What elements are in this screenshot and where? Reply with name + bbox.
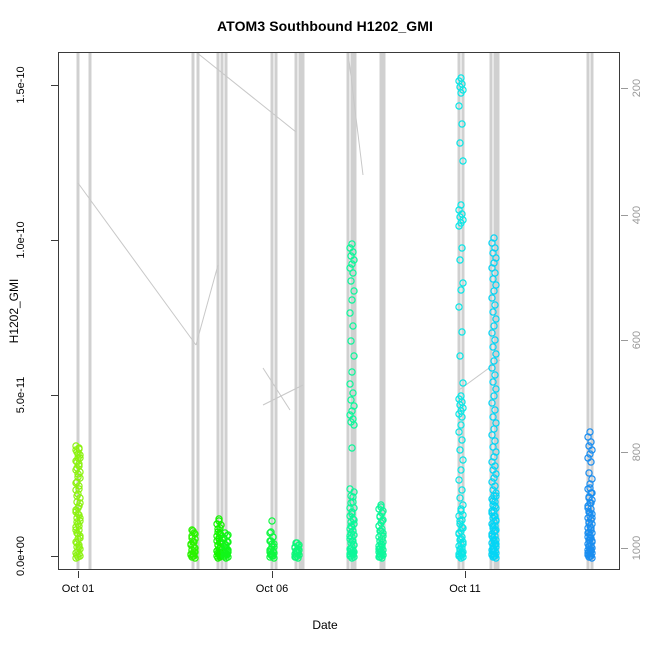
y2-axis-tick-label: 600 bbox=[631, 327, 643, 353]
axis-tick bbox=[51, 395, 58, 396]
axis-tick-right bbox=[621, 215, 628, 216]
chart-root: ATOM3 Southbound H1202_GMI 0.0e+005.0e-1… bbox=[0, 0, 650, 650]
y2-axis-tick-label: 200 bbox=[631, 75, 643, 101]
axis-tick-right bbox=[621, 548, 628, 549]
y-axis-tick-label: 5.0e-11 bbox=[15, 373, 27, 417]
axis-tick-right bbox=[621, 340, 628, 341]
y-axis-tick-label: 1.5e-10 bbox=[15, 63, 27, 107]
y-axis-label: H1202_GMI bbox=[7, 279, 21, 344]
x-axis-tick-label: Oct 01 bbox=[38, 583, 118, 595]
y-axis-tick-label: 1.0e-10 bbox=[15, 218, 27, 262]
axis-tick bbox=[51, 240, 58, 241]
axis-tick bbox=[51, 85, 58, 86]
plot-frame bbox=[58, 52, 620, 570]
y2-axis-tick-label: 800 bbox=[631, 439, 643, 465]
axis-tick bbox=[272, 571, 273, 578]
x-axis-tick-label: Oct 06 bbox=[232, 583, 312, 595]
page-title: ATOM3 Southbound H1202_GMI bbox=[0, 18, 650, 34]
axis-tick bbox=[465, 571, 466, 578]
axis-tick-right bbox=[621, 88, 628, 89]
axis-tick-right bbox=[621, 452, 628, 453]
y2-axis-tick-label: 400 bbox=[631, 202, 643, 228]
x-axis-label: Date bbox=[0, 618, 650, 632]
x-axis-tick-label: Oct 11 bbox=[425, 583, 505, 595]
y-axis-tick-label: 0.0e+00 bbox=[15, 534, 27, 578]
y2-axis-tick-label: 1000 bbox=[631, 535, 643, 561]
axis-tick bbox=[78, 571, 79, 578]
axis-tick bbox=[51, 556, 58, 557]
